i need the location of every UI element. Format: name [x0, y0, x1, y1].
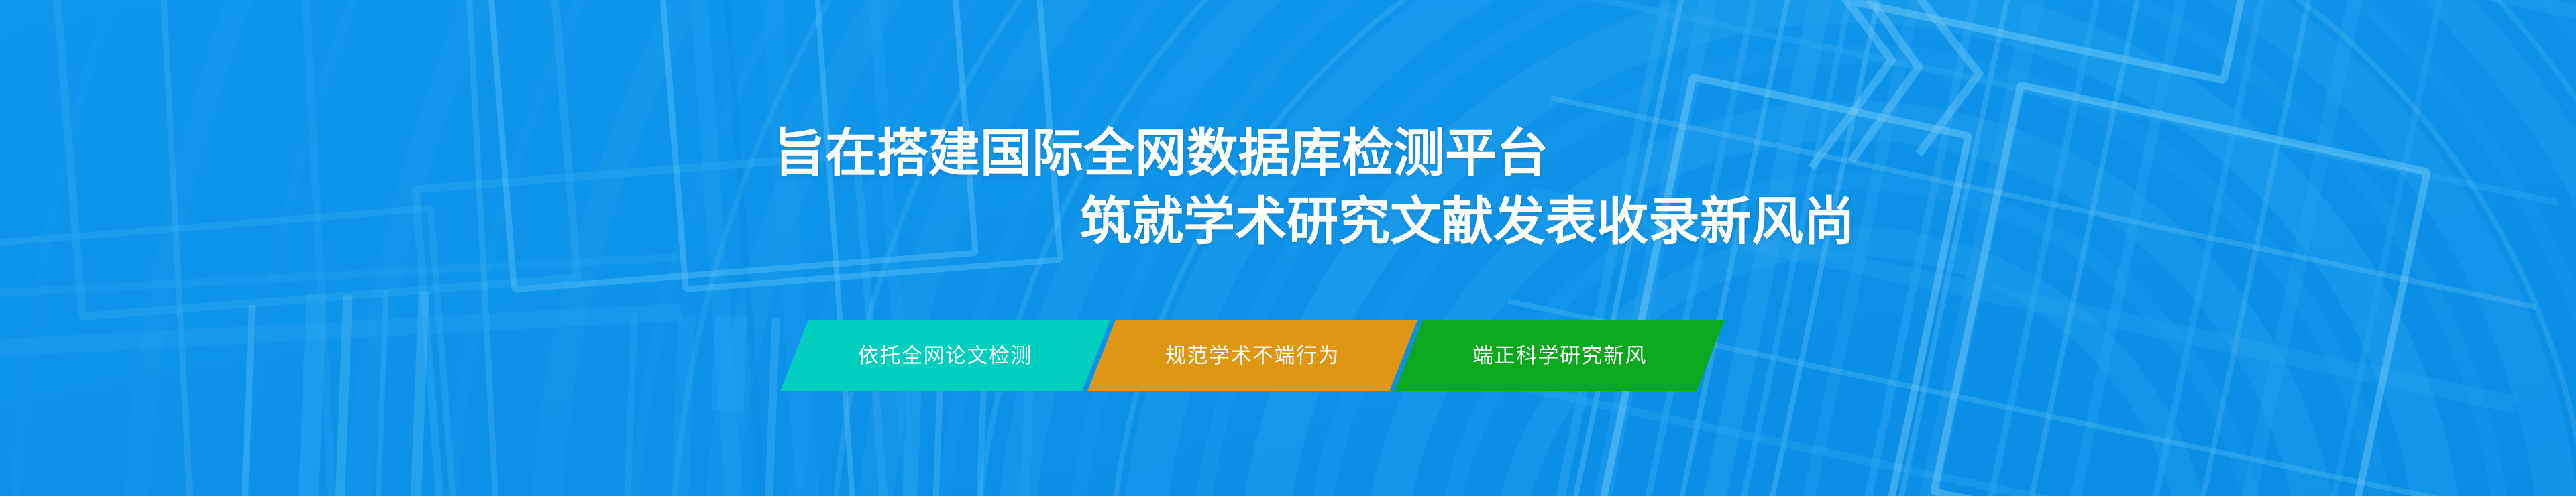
- tag-detection-label: 依托全网论文检测: [858, 345, 1032, 366]
- headline-line-2: 筑就学术研究文献发表收录新风尚: [1080, 196, 1855, 248]
- tag-research[interactable]: 端正科学研究新风: [1395, 320, 1725, 391]
- headline-block: 旨在搭建国际全网数据库检测平台 筑就学术研究文献发表收录新风尚: [0, 0, 2576, 496]
- tag-misconduct[interactable]: 规范学术不端行为: [1087, 320, 1417, 391]
- tag-misconduct-label: 规范学术不端行为: [1165, 345, 1340, 366]
- tag-detection[interactable]: 依托全网论文检测: [780, 320, 1110, 391]
- tag-research-label: 端正科学研究新风: [1472, 345, 1647, 366]
- feature-tag-strip: 依托全网论文检测 规范学术不端行为 端正科学研究新风: [775, 320, 1808, 391]
- promo-banner: 旨在搭建国际全网数据库检测平台 筑就学术研究文献发表收录新风尚 依托全网论文检测…: [0, 0, 2576, 496]
- headline-line-1: 旨在搭建国际全网数据库检测平台: [773, 128, 1548, 180]
